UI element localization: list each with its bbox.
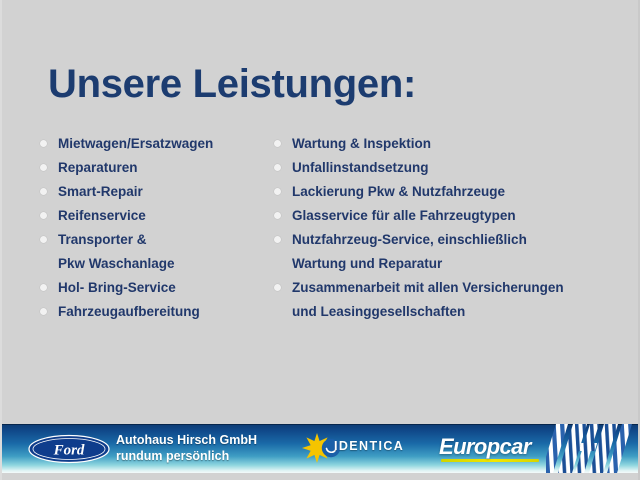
list-item: Zusammenarbeit mit allen Versicherungen [274,277,614,301]
bullet-icon [40,308,47,315]
list-item-label: Transporter & [58,229,147,251]
bullet-icon [274,236,281,243]
bullet-icon [40,188,47,195]
list-item-label: Smart-Repair [58,181,143,203]
list-item: Smart-Repair [40,181,275,205]
list-item-continuation: Pkw Waschanlage [40,253,275,277]
list-item: Nutzfahrzeug-Service, einschließlich [274,229,614,253]
list-item-label: Pkw Waschanlage [58,253,175,275]
services-right-column: Wartung & Inspektion Unfallinstandsetzun… [274,133,614,325]
bullet-icon [274,140,281,147]
list-item-continuation: Wartung und Reparatur [274,253,614,277]
ford-logo-icon: Ford [28,434,110,464]
list-item: Reparaturen [40,157,275,181]
bullet-icon [274,164,281,171]
list-item: Hol- Bring-Service [40,277,275,301]
list-item: Glasservice für alle Fahrzeugtypen [274,205,614,229]
list-item: Lackierung Pkw & Nutzfahrzeuge [274,181,614,205]
list-item: Transporter & [40,229,275,253]
ford-wordmark: Ford [53,443,85,459]
list-item-label: Zusammenarbeit mit allen Versicherungen [292,277,564,299]
presentation-slide: Unsere Leistungen: Mietwagen/Ersatzwagen… [0,0,640,480]
europcar-underline-bar [441,459,539,462]
list-item-label: und Leasinggesellschaften [292,301,465,323]
list-item-label: Unfallinstandsetzung [292,157,429,179]
bullet-icon [274,188,281,195]
bullet-icon [40,236,47,243]
list-item-label: Hol- Bring-Service [58,277,176,299]
footer-banner: Ford Autohaus Hirsch GmbH rundum persönl… [2,424,638,473]
bullet-icon [40,164,47,171]
list-item-label: Wartung und Reparatur [292,253,442,275]
bullet-icon [40,212,47,219]
services-left-column: Mietwagen/Ersatzwagen Reparaturen Smart-… [40,133,275,325]
list-item: Fahrzeugaufbereitung [40,301,275,325]
list-item: Unfallinstandsetzung [274,157,614,181]
hirsch-h-mark-icon [546,424,638,473]
europcar-logo: Europcar [439,436,547,464]
bullet-icon [274,212,281,219]
company-tagline: rundum persönlich [116,449,257,465]
bullet-icon [274,284,281,291]
list-item: Reifenservice [40,205,275,229]
list-item-label: Reifenservice [58,205,146,227]
list-item-label: Wartung & Inspektion [292,133,431,155]
list-item-label: Mietwagen/Ersatzwagen [58,133,213,155]
list-item-label: Lackierung Pkw & Nutzfahrzeuge [292,181,505,203]
list-item-label: Fahrzeugaufbereitung [58,301,200,323]
company-text-block: Autohaus Hirsch GmbH rundum persönlich [116,433,257,464]
list-item: Wartung & Inspektion [274,133,614,157]
footer-top-divider [2,424,638,425]
list-item: Mietwagen/Ersatzwagen [40,133,275,157]
list-item-label: Glasservice für alle Fahrzeugtypen [292,205,516,227]
list-item-label: Nutzfahrzeug-Service, einschließlich [292,229,527,251]
page-title: Unsere Leistungen: [48,62,416,107]
europcar-wordmark: Europcar [439,436,547,458]
bullet-icon [40,140,47,147]
bullet-icon [40,284,47,291]
company-name: Autohaus Hirsch GmbH [116,433,257,449]
list-item-label: Reparaturen [58,157,138,179]
list-item-continuation: und Leasinggesellschaften [274,301,614,325]
identica-wordmark: IDENTICA [334,439,404,453]
